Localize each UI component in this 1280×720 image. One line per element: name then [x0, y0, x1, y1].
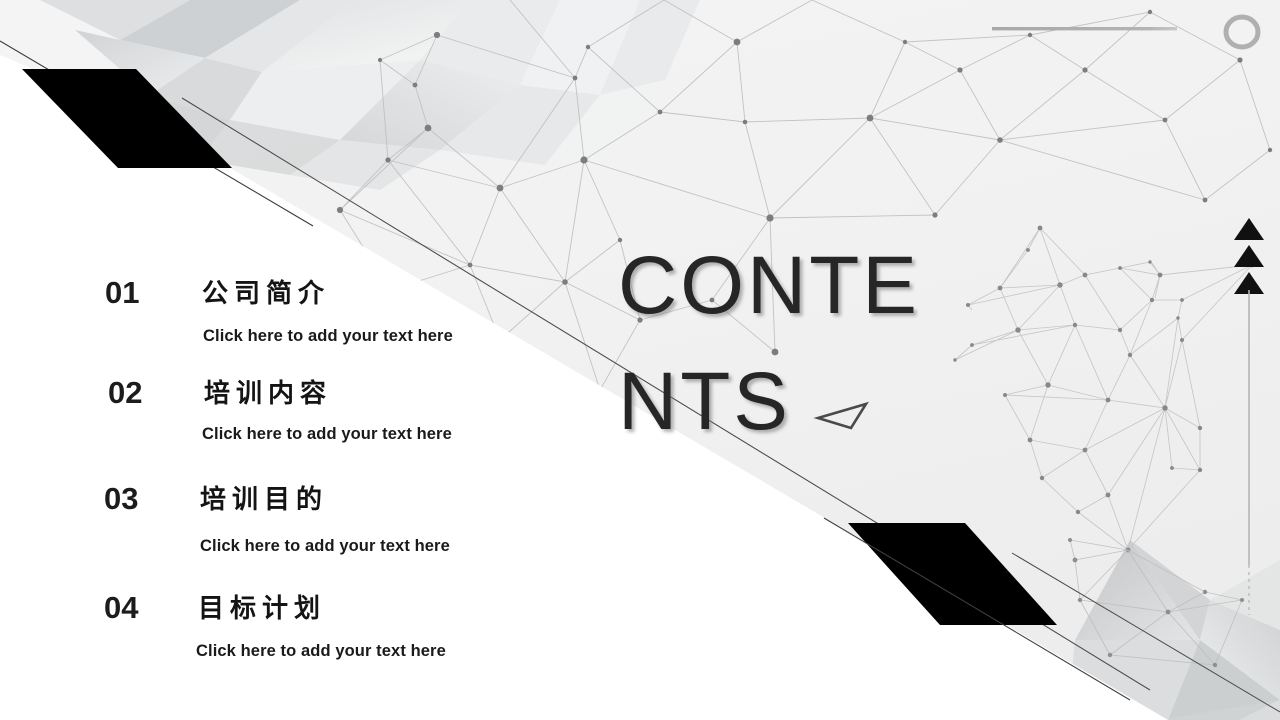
agenda-subtitle: Click here to add your text here	[203, 327, 453, 346]
agenda-number: 02	[108, 375, 142, 411]
list-item[interactable]: 04 目标计划 Click here to add your text here	[0, 590, 560, 694]
slide-canvas: CONTENTS 01 公司简介 Click here to add your …	[0, 0, 1280, 720]
list-item[interactable]: 01 公司简介 Click here to add your text here	[0, 275, 560, 379]
agenda-title: 培训目的	[200, 479, 328, 516]
agenda-title: 目标计划	[198, 588, 326, 625]
list-item[interactable]: 02 培训内容 Click here to add your text here	[0, 375, 560, 479]
list-item[interactable]: 03 培训目的 Click here to add your text here	[0, 481, 560, 585]
agenda-subtitle: Click here to add your text here	[196, 642, 446, 661]
agenda-number: 01	[105, 275, 139, 311]
agenda-subtitle: Click here to add your text here	[202, 425, 452, 444]
agenda-title: 公司简介	[202, 273, 330, 310]
agenda-number: 04	[104, 590, 138, 626]
agenda-title: 培训内容	[204, 373, 332, 410]
page-title: CONTENTS	[618, 228, 963, 460]
agenda-number: 03	[104, 481, 138, 517]
agenda-subtitle: Click here to add your text here	[200, 537, 450, 556]
top-right-rule	[992, 27, 1177, 30]
